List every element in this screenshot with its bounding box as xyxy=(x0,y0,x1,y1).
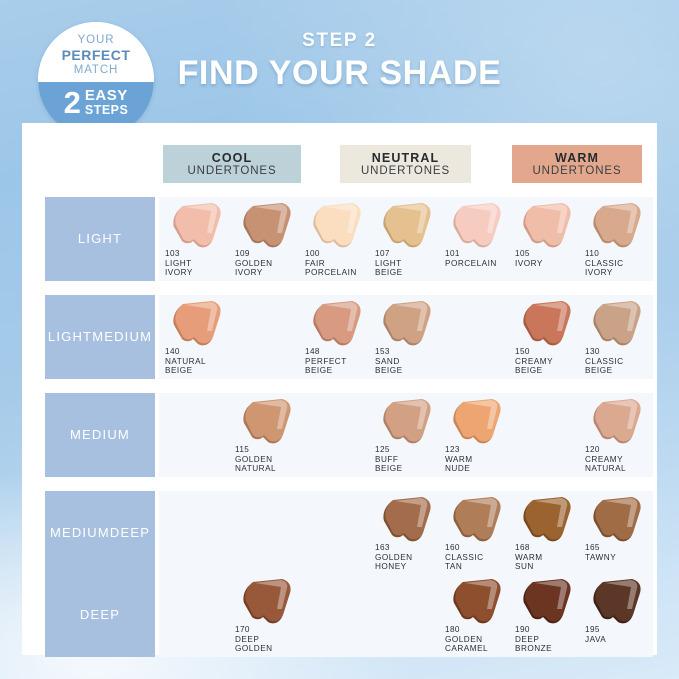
shade-name: DEEP xyxy=(235,635,321,645)
badge-line-your: YOUR xyxy=(78,34,115,47)
foundation-smear-icon xyxy=(241,579,295,625)
shade-swatch-170[interactable]: 170DEEPGOLDEN xyxy=(233,573,321,657)
shade-row: DEEP170DEEPGOLDEN180GOLDENCARAMEL190DEEP… xyxy=(22,573,657,657)
undertone-sub: UNDERTONES xyxy=(361,165,450,178)
shade-swatch-115[interactable]: 115GOLDENNATURAL xyxy=(233,393,321,477)
tone-row-label: LIGHT xyxy=(45,197,155,281)
foundation-smear-icon xyxy=(311,301,365,347)
badge-top-half: YOUR PERFECT MATCH xyxy=(38,22,154,82)
tone-row-label: MEDIUMDEEP xyxy=(45,491,155,575)
shade-caption: 165TAWNY xyxy=(585,543,671,562)
shade-name: NUDE xyxy=(445,464,531,474)
shade-name: CLASSIC xyxy=(585,357,671,367)
perfect-match-badge: YOUR PERFECT MATCH 2 EASY STEPS xyxy=(38,22,154,138)
badge-line-steps: STEPS xyxy=(85,103,129,117)
foundation-smear-icon xyxy=(171,301,225,347)
foundation-smear-icon xyxy=(591,301,645,347)
shade-name: NATURAL xyxy=(585,464,671,474)
foundation-smear-icon xyxy=(451,579,505,625)
foundation-smear-icon xyxy=(521,579,575,625)
shade-name: SAND xyxy=(375,357,461,367)
foundation-smear-icon xyxy=(171,203,225,249)
shade-swatch-195[interactable]: 195JAVA xyxy=(583,573,671,657)
foundation-smear-icon xyxy=(381,497,435,543)
foundation-smear-icon xyxy=(241,203,295,249)
undertone-header-warm: WARM UNDERTONES xyxy=(512,145,642,183)
shade-name: CLASSIC xyxy=(585,259,671,269)
shade-swatch-123[interactable]: 123WARMNUDE xyxy=(443,393,531,477)
shade-row: MEDIUM115GOLDENNATURAL125BUFFBEIGE123WAR… xyxy=(22,393,657,477)
foundation-smear-icon xyxy=(241,399,295,445)
shade-swatch-140[interactable]: 140NATURALBEIGE xyxy=(163,295,251,379)
shade-caption: 120CREAMYNATURAL xyxy=(585,445,671,474)
shade-name: GOLDEN xyxy=(235,644,321,654)
undertone-name: WARM xyxy=(555,151,599,165)
shade-caption: 170DEEPGOLDEN xyxy=(235,625,321,654)
foundation-smear-icon xyxy=(381,203,435,249)
shade-caption: 130CLASSICBEIGE xyxy=(585,347,671,376)
shade-number: 130 xyxy=(585,347,671,357)
shade-name: JAVA xyxy=(585,635,671,645)
foundation-smear-icon xyxy=(451,203,505,249)
foundation-smear-icon xyxy=(451,497,505,543)
shade-finder-poster: STEP 2 FIND YOUR SHADE YOUR PERFECT MATC… xyxy=(0,0,679,679)
shade-number: 195 xyxy=(585,625,671,635)
shade-row: MEDIUMDEEP163GOLDENHONEY160CLASSICTAN168… xyxy=(22,491,657,575)
shade-number: 140 xyxy=(165,347,251,357)
undertone-header-neutral: NEUTRAL UNDERTONES xyxy=(340,145,471,183)
tone-row-label: LIGHTMEDIUM xyxy=(45,295,155,379)
undertone-sub: UNDERTONES xyxy=(532,165,621,178)
shade-swatch-120[interactable]: 120CREAMYNATURAL xyxy=(583,393,671,477)
shade-caption: 140NATURALBEIGE xyxy=(165,347,251,376)
shade-row: LIGHTMEDIUM140NATURALBEIGE148PERFECTBEIG… xyxy=(22,295,657,379)
badge-line-match: MATCH xyxy=(74,63,119,77)
shade-number: 110 xyxy=(585,249,671,259)
shade-name: BEIGE xyxy=(375,366,461,376)
undertone-name: COOL xyxy=(212,151,253,165)
shade-swatch-153[interactable]: 153SANDBEIGE xyxy=(373,295,461,379)
shade-swatch-110[interactable]: 110CLASSICIVORY xyxy=(583,197,671,281)
foundation-smear-icon xyxy=(381,301,435,347)
shade-number: 120 xyxy=(585,445,671,455)
badge-easy-steps: EASY STEPS xyxy=(85,88,129,117)
foundation-smear-icon xyxy=(591,579,645,625)
foundation-smear-icon xyxy=(311,203,365,249)
shade-name: TAWNY xyxy=(585,553,671,563)
undertone-header-cool: COOL UNDERTONES xyxy=(163,145,301,183)
shade-name: CREAMY xyxy=(585,455,671,465)
badge-line-easy: EASY xyxy=(85,88,129,103)
shade-number: 153 xyxy=(375,347,461,357)
shade-caption: 195JAVA xyxy=(585,625,671,644)
foundation-smear-icon xyxy=(591,497,645,543)
shade-name: NATURAL xyxy=(165,357,251,367)
foundation-smear-icon xyxy=(591,399,645,445)
shade-caption: 115GOLDENNATURAL xyxy=(235,445,321,474)
shade-number: 165 xyxy=(585,543,671,553)
badge-step-number: 2 xyxy=(64,87,81,118)
foundation-smear-icon xyxy=(591,203,645,249)
shade-name: BEIGE xyxy=(585,366,671,376)
shade-caption: 153SANDBEIGE xyxy=(375,347,461,376)
shade-number: 123 xyxy=(445,445,531,455)
shade-swatch-165[interactable]: 165TAWNY xyxy=(583,491,671,575)
undertone-sub: UNDERTONES xyxy=(187,165,276,178)
shade-chart-card: COOL UNDERTONES NEUTRAL UNDERTONES WARM … xyxy=(22,123,657,655)
shade-name: GOLDEN xyxy=(235,455,321,465)
shade-name: WARM xyxy=(445,455,531,465)
foundation-smear-icon xyxy=(521,301,575,347)
shade-caption: 123WARMNUDE xyxy=(445,445,531,474)
shade-row: LIGHT103LIGHTIVORY109GOLDENIVORY100FAIRP… xyxy=(22,197,657,281)
shade-name: IVORY xyxy=(585,268,671,278)
shade-name: BEIGE xyxy=(165,366,251,376)
shade-caption: 110CLASSICIVORY xyxy=(585,249,671,278)
shade-number: 115 xyxy=(235,445,321,455)
tone-row-label: DEEP xyxy=(45,573,155,657)
shade-name: NATURAL xyxy=(235,464,321,474)
shade-number: 170 xyxy=(235,625,321,635)
tone-row-label: MEDIUM xyxy=(45,393,155,477)
foundation-smear-icon xyxy=(521,497,575,543)
badge-line-perfect: PERFECT xyxy=(62,47,131,63)
foundation-smear-icon xyxy=(521,203,575,249)
undertone-name: NEUTRAL xyxy=(372,151,439,165)
shade-swatch-130[interactable]: 130CLASSICBEIGE xyxy=(583,295,671,379)
foundation-smear-icon xyxy=(381,399,435,445)
foundation-smear-icon xyxy=(451,399,505,445)
